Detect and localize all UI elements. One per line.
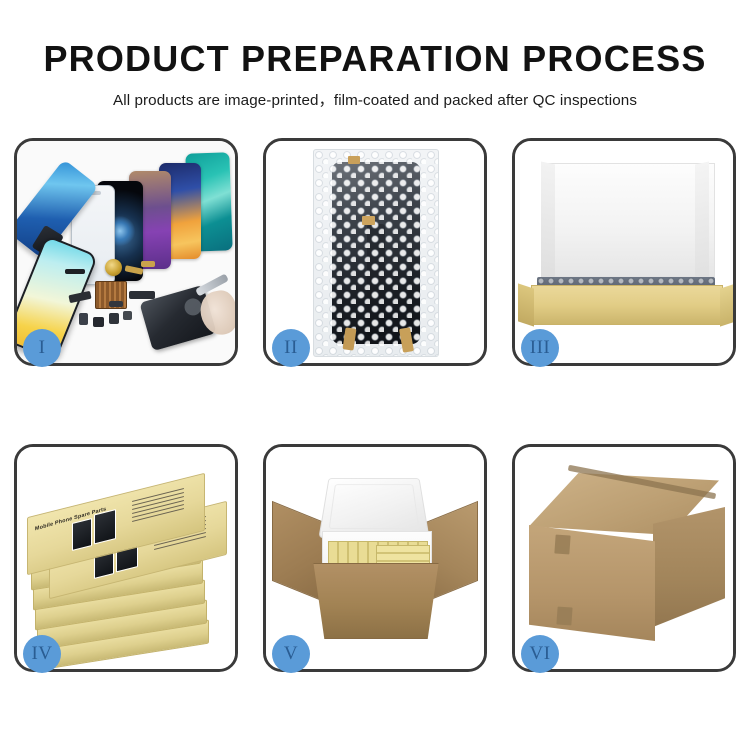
kraft-box-body [531, 285, 723, 325]
foam-box-lid [318, 478, 429, 538]
tape-strip-top [348, 156, 360, 164]
box-lid-right-flap [695, 162, 709, 285]
process-step-card-1: I [14, 138, 238, 366]
step-badge-4: IV [23, 635, 61, 673]
small-component-1 [79, 313, 88, 325]
earpiece-part [65, 269, 85, 274]
process-step-card-6: VI [512, 444, 736, 672]
small-component-2 [93, 317, 104, 327]
box-lid-panel [541, 163, 715, 277]
page-header: PRODUCT PREPARATION PROCESS All products… [0, 0, 750, 110]
bubble-wrap-bag [313, 149, 439, 357]
small-component-4 [123, 311, 132, 320]
process-step-card-4: Mobile Phone Spare Parts Mobile Phone Sp… [14, 444, 238, 672]
carton-body [308, 563, 444, 639]
step-badge-5: V [272, 635, 310, 673]
box-phone-graphic-1a [72, 518, 92, 551]
carton-tape-lower [556, 606, 572, 625]
process-step-grid: I II III [14, 138, 736, 682]
carton-tape-upper [554, 535, 570, 555]
page-subtitle: All products are image-printed，film-coat… [0, 79, 750, 110]
speaker-coil-part [105, 259, 122, 276]
tape-strip-middle [362, 216, 375, 225]
box-stack: Mobile Phone Spare Parts Mobile Phone Sp… [27, 467, 227, 657]
step-badge-1: I [23, 329, 61, 367]
process-step-card-5: V [263, 444, 487, 672]
small-component-3 [109, 313, 119, 324]
box-spec-lines-1 [132, 488, 184, 525]
carton-front-face [529, 525, 655, 641]
carton-side-face [653, 507, 725, 627]
bubble-texture [314, 150, 438, 356]
step-badge-6: VI [521, 635, 559, 673]
flex-cable-part-4 [141, 261, 155, 267]
box-lid-left-flap [541, 162, 555, 285]
flex-cable-part-2 [129, 291, 155, 299]
small-component-5 [109, 301, 123, 307]
process-step-card-2: II [263, 138, 487, 366]
process-step-card-3: III [512, 138, 736, 366]
box-phone-graphic-1b [94, 509, 116, 544]
page-title: PRODUCT PREPARATION PROCESS [0, 0, 750, 79]
step-badge-3: III [521, 329, 559, 367]
step-badge-2: II [272, 329, 310, 367]
